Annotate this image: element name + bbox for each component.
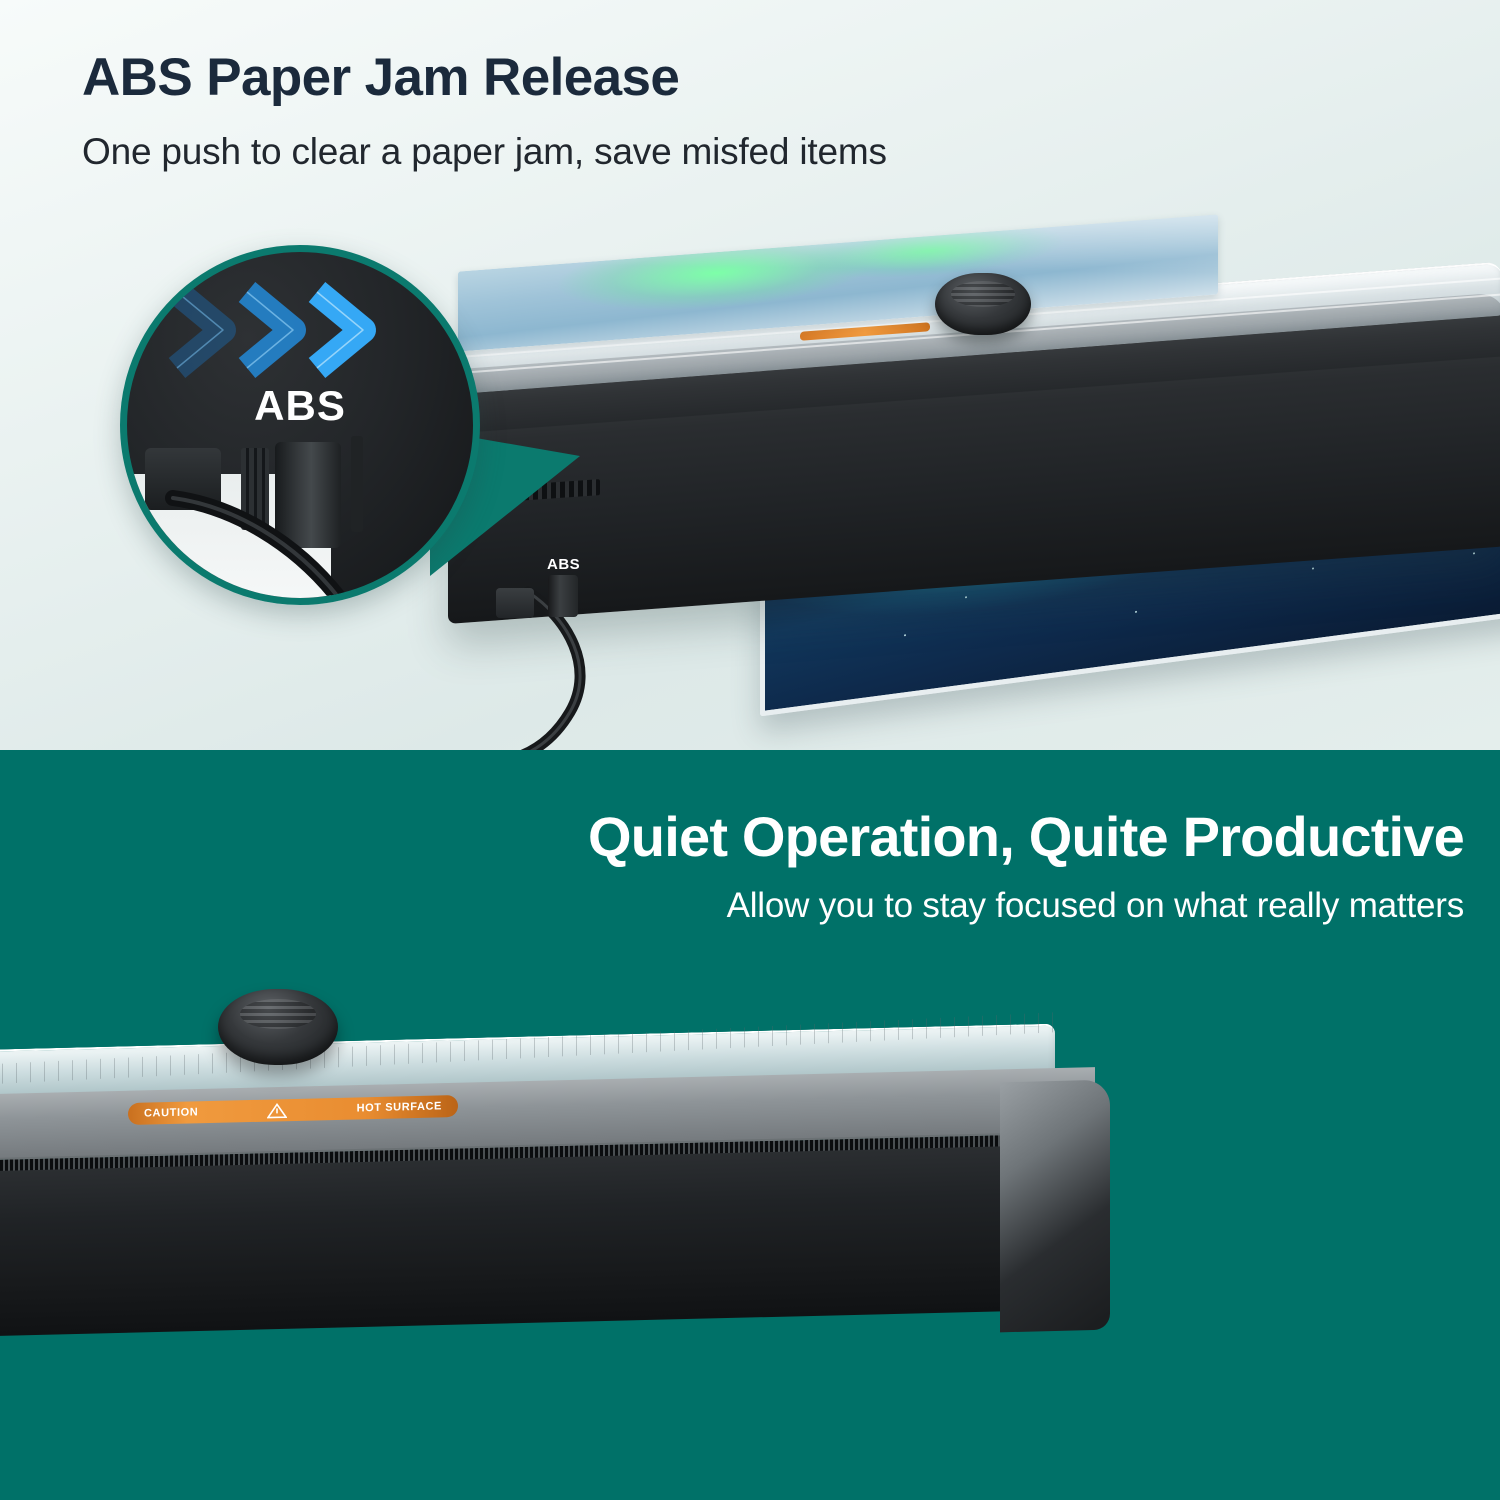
laminator-front-face — [0, 1144, 1090, 1337]
caution-right-text: HOT SURFACE — [357, 1100, 442, 1114]
warning-triangle-icon — [267, 1102, 287, 1118]
top-section-title: ABS Paper Jam Release — [82, 47, 679, 108]
magnifier-abs-label: ABS — [127, 382, 473, 430]
abs-chevron-arrows-icon — [137, 270, 480, 400]
power-socket — [496, 588, 534, 618]
laminator-front-view: CAUTION HOT SURFACE — [0, 995, 1160, 1500]
thickness-knob[interactable] — [935, 273, 1031, 335]
caution-left-text: CAUTION — [144, 1106, 198, 1119]
top-section-subtitle: One push to clear a paper jam, save misf… — [82, 131, 887, 173]
abs-release-lever[interactable] — [548, 575, 578, 617]
quiet-operation-section: Quiet Operation, Quite Productive Allow … — [0, 750, 1500, 1500]
laminator-right-end-cap — [1000, 1080, 1110, 1333]
bottom-section-title: Quiet Operation, Quite Productive — [0, 804, 1464, 869]
magnifier-power-cord — [163, 480, 393, 605]
abs-magnifier-callout: ABS — [120, 245, 480, 605]
abs-paper-jam-section: ABS Paper Jam Release One push to clear … — [0, 0, 1500, 750]
thickness-knob-bottom[interactable] — [218, 989, 338, 1065]
bottom-section-subtitle: Allow you to stay focused on what really… — [0, 886, 1464, 926]
